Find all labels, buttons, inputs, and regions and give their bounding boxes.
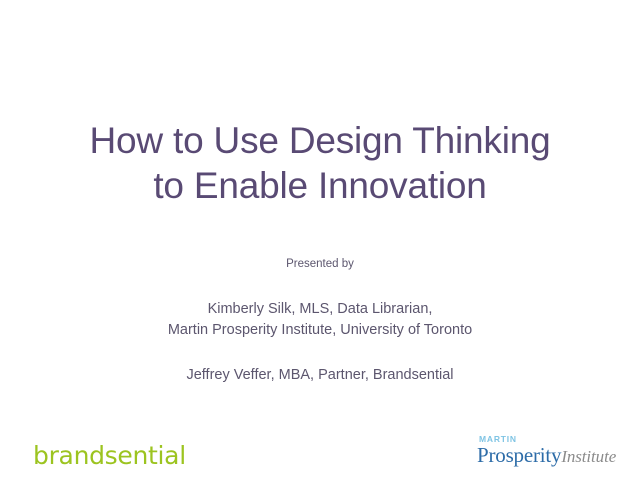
slide-title-line-1: How to Use Design Thinking xyxy=(50,118,590,163)
mpi-institute-text: Institute xyxy=(561,447,616,466)
presenter-1-name: Kimberly Silk, MLS, Data Librarian, xyxy=(50,299,590,320)
presented-by-label: Presented by xyxy=(50,257,590,271)
slide-title-line-2: to Enable Innovation xyxy=(50,163,590,208)
presenter-spacer xyxy=(50,341,590,365)
martin-prosperity-institute-logo: MARTIN ProsperityInstitute xyxy=(477,434,617,468)
brandsential-logo: brandsential xyxy=(33,441,186,471)
presenter-2-name: Jeffrey Veffer, MBA, Partner, Brandsenti… xyxy=(50,365,590,386)
presenter-list: Kimberly Silk, MLS, Data Librarian, Mart… xyxy=(50,299,590,386)
mpi-prosperity-text: Prosperity xyxy=(477,443,561,467)
mpi-wordmark: ProsperityInstitute xyxy=(477,444,617,469)
slide-title: How to Use Design Thinking to Enable Inn… xyxy=(50,118,590,208)
presentation-title-slide: How to Use Design Thinking to Enable Inn… xyxy=(0,0,640,480)
presenter-1-affiliation: Martin Prosperity Institute, University … xyxy=(50,320,590,341)
